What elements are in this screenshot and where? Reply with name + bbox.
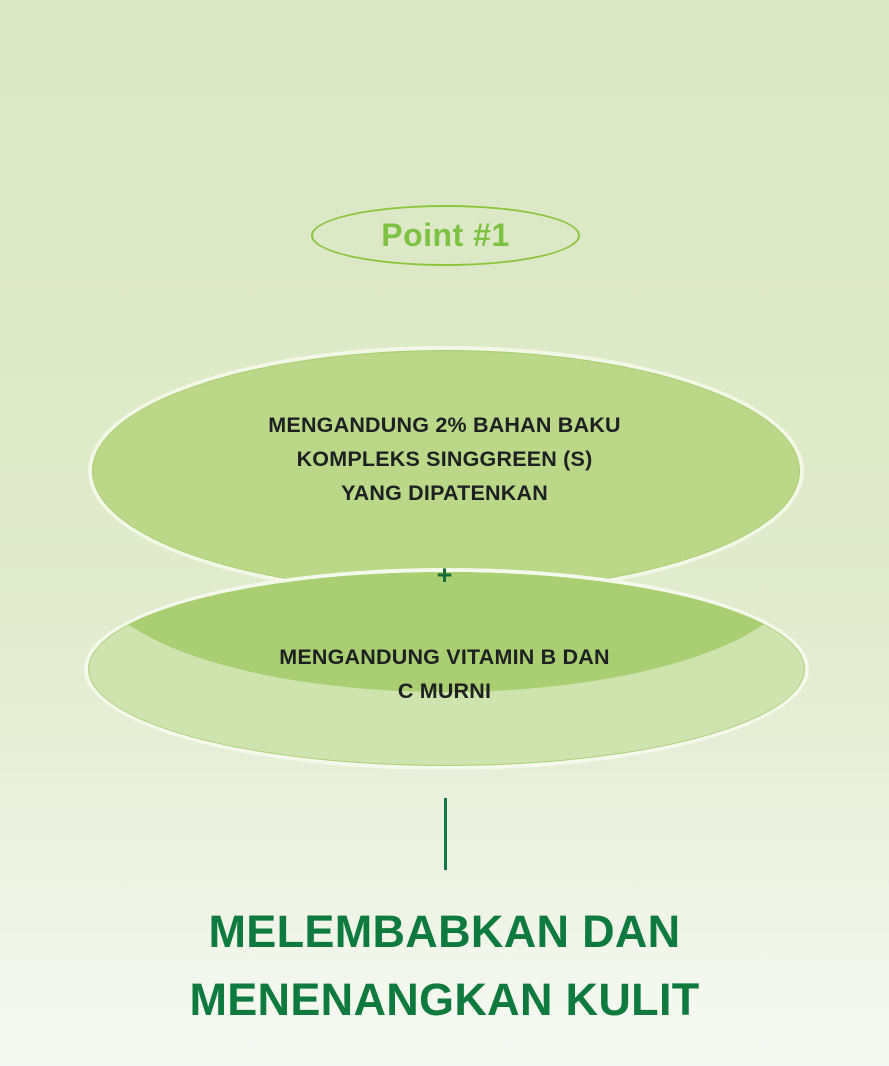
venn-top-text-line-1: MENGANDUNG 2% BAHAN BAKU — [0, 408, 889, 442]
venn-top-text-line-3: YANG DIPATENKAN — [0, 476, 889, 510]
venn-top-text: MENGANDUNG 2% BAHAN BAKU KOMPLEKS SINGGR… — [0, 408, 889, 510]
point-badge-label: Point #1 — [381, 219, 509, 253]
conclusion-line-2: MENENANGKAN KULIT — [0, 966, 889, 1034]
slide-canvas: Point #1 MENGANDUNG 2% BAHAN BAKU KOMPLE… — [0, 0, 889, 1066]
conclusion-line-1: MELEMBABKAN DAN — [0, 898, 889, 966]
connector-line — [444, 798, 447, 870]
point-badge: Point #1 — [311, 205, 580, 266]
conclusion-headline: MELEMBABKAN DAN MENENANGKAN KULIT — [0, 898, 889, 1034]
venn-bottom-text-line-1: MENGANDUNG VITAMIN B DAN — [0, 640, 889, 674]
plus-icon: + — [0, 562, 889, 589]
venn-top-text-line-2: KOMPLEKS SINGGREEN (S) — [0, 442, 889, 476]
venn-bottom-text: MENGANDUNG VITAMIN B DAN C MURNI — [0, 640, 889, 708]
venn-bottom-text-line-2: C MURNI — [0, 674, 889, 708]
